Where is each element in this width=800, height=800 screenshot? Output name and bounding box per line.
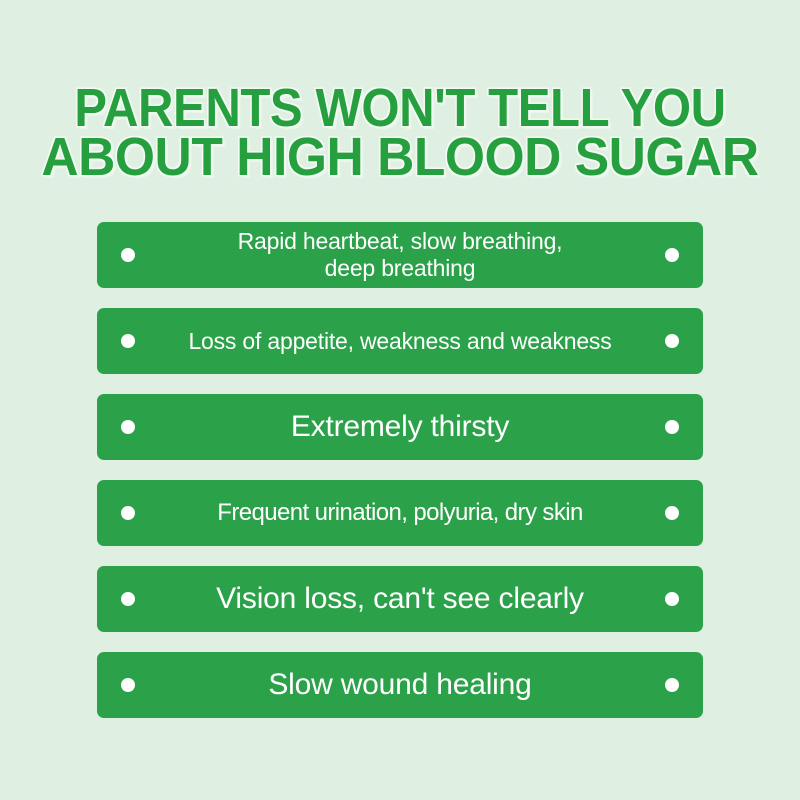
bullet-dot-left-icon [121, 334, 135, 348]
bullet-dot-left-icon [121, 248, 135, 262]
symptom-item-5: Vision loss, can't see clearly [97, 566, 703, 632]
symptom-label-4: Frequent urination, polyuria, dry skin [217, 499, 582, 527]
headline-line-2: ABOUT HIGH BLOOD SUGAR [37, 133, 763, 182]
symptom-item-4: Frequent urination, polyuria, dry skin [97, 480, 703, 546]
symptom-label-6: Slow wound healing [268, 668, 531, 703]
bullet-dot-right-icon [665, 678, 679, 692]
bullet-dot-right-icon [665, 592, 679, 606]
bullet-dot-right-icon [665, 334, 679, 348]
symptom-item-2: Loss of appetite, weakness and weakness [97, 308, 703, 374]
page-title: PARENTS WON'T TELL YOU ABOUT HIGH BLOOD … [20, 84, 780, 182]
headline-line-1: PARENTS WON'T TELL YOU [54, 84, 746, 133]
bullet-dot-left-icon [121, 506, 135, 520]
bullet-dot-left-icon [121, 592, 135, 606]
bullet-dot-left-icon [121, 420, 135, 434]
bullet-dot-right-icon [665, 248, 679, 262]
bullet-dot-right-icon [665, 506, 679, 520]
symptom-label-3: Extremely thirsty [291, 410, 509, 445]
symptom-label-5: Vision loss, can't see clearly [216, 582, 584, 617]
symptom-label-2: Loss of appetite, weakness and weakness [188, 328, 611, 355]
bullet-dot-right-icon [665, 420, 679, 434]
symptom-item-1: Rapid heartbeat, slow breathing, deep br… [97, 222, 703, 288]
symptom-list: Rapid heartbeat, slow breathing, deep br… [97, 222, 703, 718]
symptom-item-6: Slow wound healing [97, 652, 703, 718]
infographic-poster: PARENTS WON'T TELL YOU ABOUT HIGH BLOOD … [0, 0, 800, 800]
bullet-dot-left-icon [121, 678, 135, 692]
symptom-item-3: Extremely thirsty [97, 394, 703, 460]
symptom-label-1: Rapid heartbeat, slow breathing, deep br… [238, 228, 563, 281]
